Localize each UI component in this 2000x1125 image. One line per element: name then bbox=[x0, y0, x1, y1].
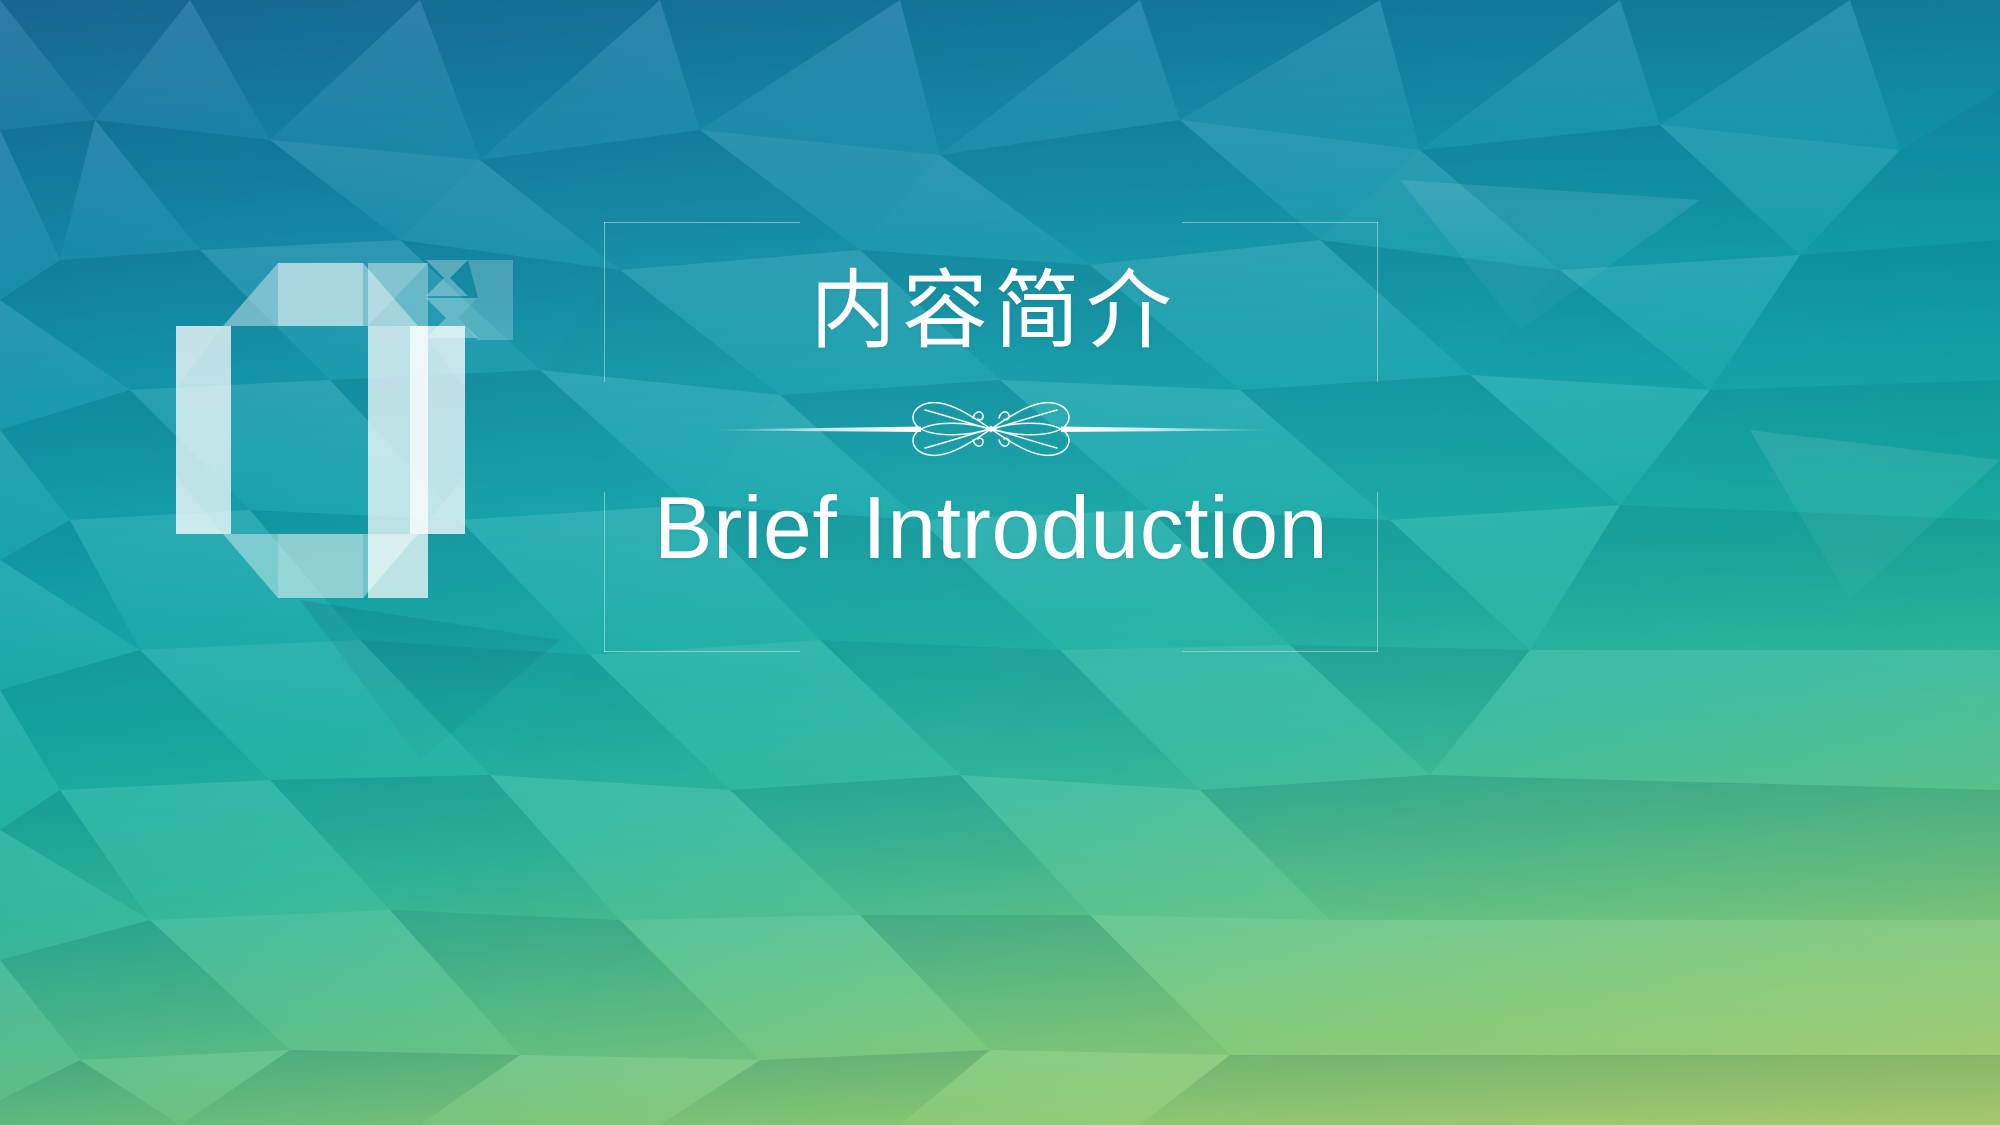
numeral-one-shape bbox=[368, 263, 428, 598]
divider-rule-right bbox=[1061, 427, 1271, 433]
slide-subtitle-english: Brief Introduction bbox=[654, 482, 1328, 574]
zigzag-accent bbox=[426, 260, 513, 340]
presentation-slide: 内容简介 bbox=[0, 0, 2000, 1125]
divider-rule-left bbox=[711, 427, 921, 433]
slide-title-chinese: 内容简介 bbox=[804, 268, 1178, 354]
section-number-graphic bbox=[168, 248, 528, 616]
slide-text-block: 内容简介 bbox=[604, 222, 1378, 652]
flourish-divider bbox=[711, 390, 1271, 468]
